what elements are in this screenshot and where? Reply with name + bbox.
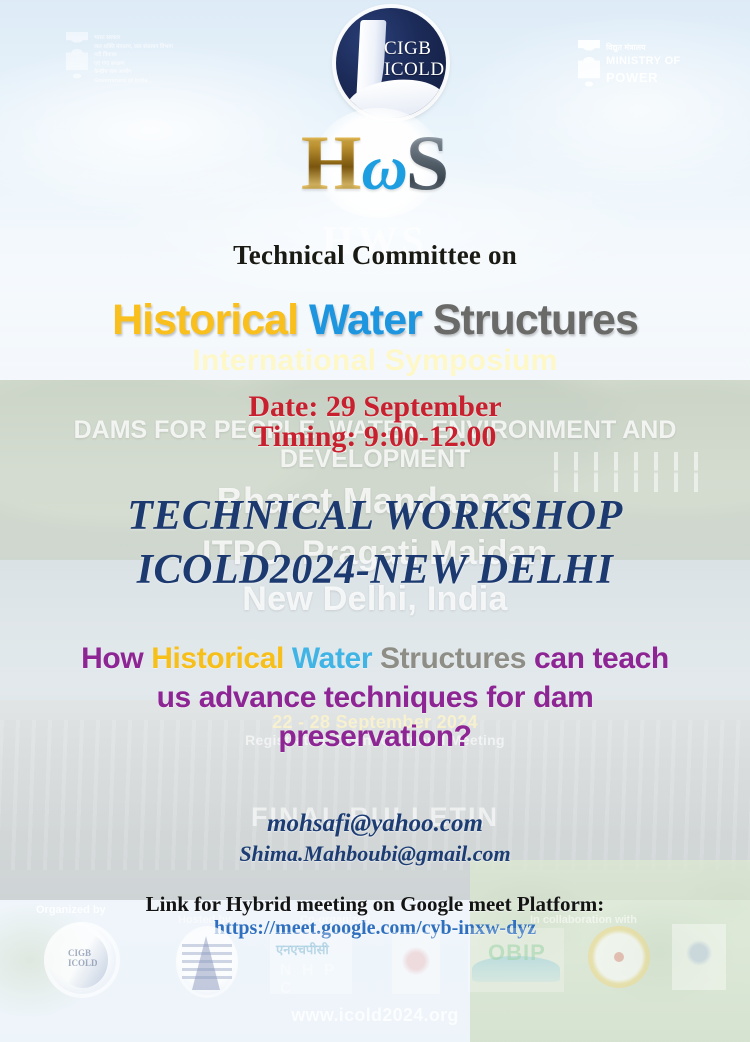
ashoka-emblem-icon bbox=[66, 32, 88, 82]
poster-canvas: International Symposium DAMS FOR PEOPLE,… bbox=[0, 0, 750, 1042]
workshop-title-line-1: TECHNICAL WORKSHOP bbox=[0, 492, 750, 540]
cwc-logo bbox=[176, 926, 238, 998]
emblem-left-line-2: नदी विकास bbox=[94, 52, 173, 59]
question-line-1: How Historical Water Structures can teac… bbox=[0, 642, 750, 676]
partner-last-logo bbox=[672, 924, 726, 990]
obip-logo: OBIP bbox=[468, 928, 564, 992]
event-date: Date: 29 September bbox=[0, 390, 750, 424]
question-word-how: How bbox=[81, 642, 151, 675]
footer-label-organized: Organized by bbox=[36, 904, 106, 916]
icold-logo-line-1: CIGB bbox=[384, 38, 445, 59]
cigb-icold-footer-logo: CIGB ICOLD bbox=[44, 922, 120, 998]
decorative-chevrons bbox=[548, 452, 708, 492]
obip-logo-text: OBIP bbox=[488, 940, 546, 966]
footer-label-coorganized: Co-organized bbox=[300, 914, 370, 926]
ministry-label-line-1: MINISTRY OF bbox=[606, 55, 681, 68]
hws-letter-h: H bbox=[301, 119, 362, 206]
nhpc-english-text: N H P C bbox=[280, 962, 352, 998]
hws-logo: HωS HWS bbox=[0, 120, 750, 228]
footer-label-collaboration: In collaboration with bbox=[530, 914, 637, 926]
workshop-title-line-2: ICOLD2024-NEW DELHI bbox=[0, 546, 750, 594]
page-title: Historical Water Structures bbox=[0, 296, 750, 345]
event-timing: Timing: 9:00-12.00 bbox=[0, 420, 750, 454]
emblem-left-line-0: भारत सरकार bbox=[94, 35, 173, 42]
ministry-of-power-emblem: विद्युत मंत्रालय MINISTRY OF POWER bbox=[578, 40, 681, 90]
emblem-left-line-3: एवं गंगा संरक्षण bbox=[94, 61, 173, 68]
cigb-icold-logo: CIGB ICOLD bbox=[336, 8, 446, 118]
hws-letter-s: S bbox=[406, 119, 449, 206]
wapcos-logo bbox=[392, 932, 440, 994]
title-word-water: Water bbox=[309, 296, 422, 344]
government-emblem-left: भारत सरकार जल शक्ति मंत्रालय, जल संसाधन … bbox=[66, 32, 173, 84]
emblem-left-line-4: केन्द्रीय जल आयोग bbox=[94, 69, 173, 76]
partner-circle-logo bbox=[588, 926, 650, 988]
title-word-structures: Structures bbox=[433, 296, 638, 344]
footer-partner-strip: Organized by Hosted by Co-organized In c… bbox=[0, 898, 750, 1008]
emblem-left-line-5: Government of India bbox=[94, 78, 173, 85]
question-word-historical: Historical bbox=[151, 642, 284, 675]
hws-letter-w: ω bbox=[362, 132, 406, 203]
ministry-hindi-label: विद्युत मंत्रालय bbox=[606, 43, 681, 53]
question-word-structures: Structures bbox=[372, 642, 526, 675]
question-word-canteach: can teach bbox=[526, 642, 669, 675]
nhpc-logo: एनएचपीसी N H P C bbox=[270, 932, 352, 994]
question-line-3: preservation? bbox=[0, 720, 750, 754]
ashoka-emblem-icon bbox=[578, 40, 600, 90]
contact-email-secondary[interactable]: Shima.Mahboubi@gmail.com bbox=[0, 841, 750, 867]
question-line-2: us advance techniques for dam bbox=[0, 681, 750, 715]
nhpc-hindi-text: एनएचपीसी bbox=[276, 940, 329, 958]
cwc-logo-triangle bbox=[192, 936, 220, 990]
question-word-water: Water bbox=[284, 642, 372, 675]
wapcos-logo-mark bbox=[402, 946, 430, 976]
committee-label: Technical Committee on bbox=[0, 240, 750, 271]
cigb-footer-line-1: CIGB bbox=[68, 948, 98, 958]
partner-last-emblem bbox=[686, 940, 712, 966]
emblem-left-line-1: जल शक्ति मंत्रालय, जल संसाधन विभाग bbox=[94, 44, 173, 51]
title-word-historical: Historical bbox=[112, 296, 298, 344]
partner-circle-center-dot bbox=[614, 952, 624, 962]
footer-label-hosted: Hosted by bbox=[178, 914, 231, 926]
ministry-label-line-2: POWER bbox=[606, 70, 681, 85]
icold-logo-line-2: ICOLD bbox=[384, 59, 445, 80]
cigb-footer-line-2: ICOLD bbox=[68, 958, 98, 968]
contact-email-primary[interactable]: mohsafi@yahoo.com bbox=[0, 810, 750, 838]
